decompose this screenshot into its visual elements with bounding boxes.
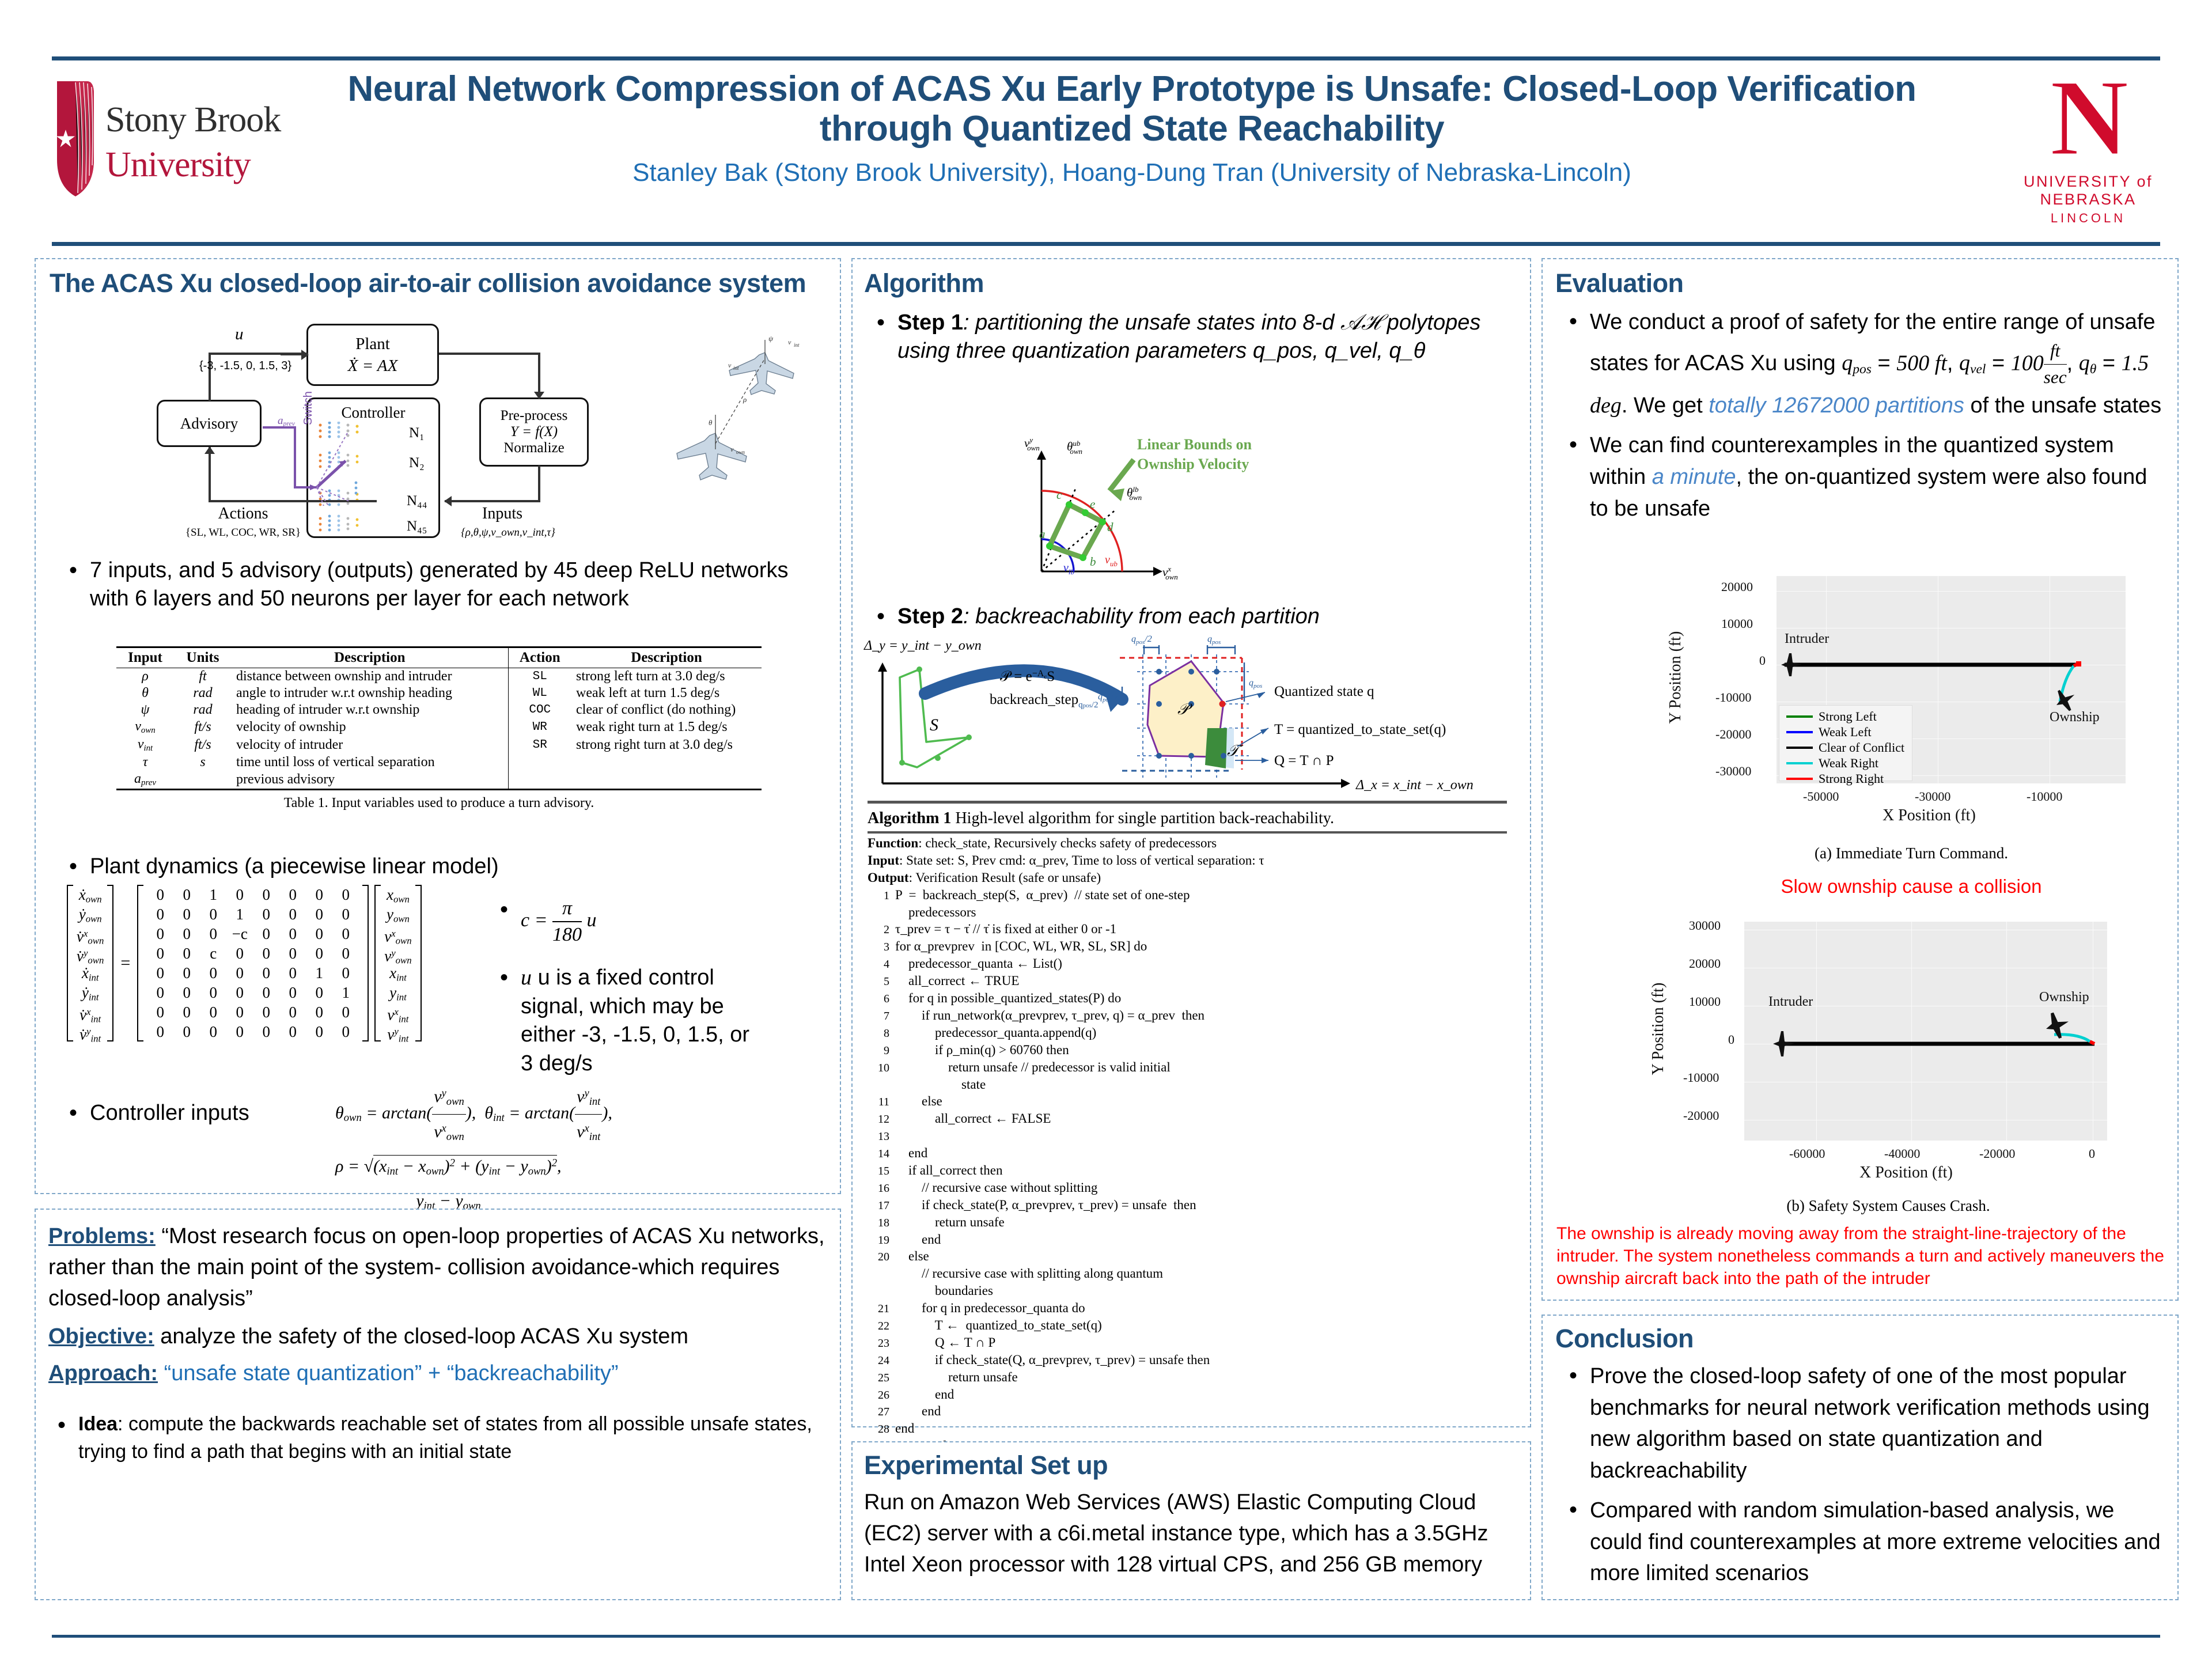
th-action: Action — [508, 647, 571, 668]
legend-item: Strong Right — [1779, 771, 1912, 786]
plot-b-ytick: 20000 — [1689, 956, 1721, 971]
label-inputs: Inputs — [456, 505, 548, 523]
legend-swatch-weak-left — [1786, 731, 1813, 733]
equals-sign: = — [113, 953, 137, 973]
matrix-rhs-column: xown yown vxown vyown xint yint vxint vy… — [381, 885, 415, 1041]
legend-swatch-strong-right — [1786, 778, 1813, 780]
section-heading-acas: The ACAS Xu closed-loop air-to-air colli… — [50, 268, 806, 298]
matrix-a-cell: 0 — [253, 944, 279, 963]
matrix-a-cell: 0 — [147, 1002, 173, 1022]
legend-item: Strong Left — [1779, 709, 1912, 724]
svg-text:v: v — [788, 338, 791, 346]
panel-conclusion: Conclusion Prove the closed-loop safety … — [1541, 1315, 2179, 1600]
aircraft-icon-intruder — [1773, 1031, 1795, 1056]
matrix-a-cell: 0 — [332, 1002, 359, 1022]
matrix-a-cell: 0 — [147, 983, 173, 1002]
algorithm-line: 17 if check_state(P, α_prevprev, τ_prev)… — [868, 1196, 1507, 1214]
matrix-a-cell: 0 — [200, 904, 226, 924]
cell-input: ψ — [116, 702, 174, 718]
algorithm-line-text: // recursive case without splitting — [895, 1180, 1097, 1195]
matrix-rhs-cell: yown — [384, 904, 411, 924]
step2-label: Step 2 — [897, 604, 963, 628]
experimental-setup-text: Run on Amazon Web Services (AWS) Elastic… — [864, 1487, 1521, 1581]
marker-collision — [2076, 661, 2081, 666]
matrix-a-cell: 0 — [332, 904, 359, 924]
matrix-a-cell: 0 — [306, 924, 332, 944]
matrix-a-cell: 0 — [147, 904, 173, 924]
block-preprocess: Pre-process Y = f(X) Normalize — [479, 397, 589, 467]
matrix-a-cell: 0 — [253, 885, 279, 904]
block-preprocess-line-2: Y = f(X) — [510, 424, 558, 440]
label-qpos-right: qpos — [1249, 678, 1262, 690]
matrix-a-cell: 0 — [253, 1002, 279, 1022]
table-caption: Table 1. Input variables used to produce… — [116, 796, 762, 811]
annotation-Q: Q = T ∩ P — [1274, 753, 1334, 768]
svg-text:d: d — [1107, 520, 1113, 534]
algorithm-line: 20 else — [868, 1248, 1507, 1265]
matrix-a-cell: 0 — [306, 904, 332, 924]
algorithm-line-text: all_correct ← FALSE — [895, 1111, 1051, 1126]
cell-action-description: clear of conflict (do nothing) — [571, 702, 762, 718]
cell-units: rad — [174, 702, 232, 718]
svg-text:θlbown: θlbown — [1127, 485, 1142, 502]
closed-loop-block-diagram: Plant Ẋ = AX Pre-process Y = f(X) Normal… — [134, 312, 623, 543]
matrix-a-cell: 0 — [173, 983, 200, 1002]
cell-action: SR — [508, 736, 571, 754]
stony-brook-wordmark-2: University — [105, 145, 251, 185]
label-qpos-top: qpos — [1207, 634, 1221, 646]
svg-text:vyown: vyown — [1024, 435, 1040, 452]
axis-label-delta-y: Δ_y = y_int − y_own — [863, 638, 982, 653]
algorithm-line-text: boundaries — [895, 1283, 993, 1298]
matrix-a-cell: 0 — [306, 885, 332, 904]
algorithm-line: 26 end — [868, 1386, 1507, 1403]
algorithm-line-text: end — [895, 1232, 941, 1247]
matrix-rhs-cell: vxown — [384, 924, 411, 944]
matrix-a-cell: 0 — [147, 963, 173, 983]
aircraft-icon-intruder — [1781, 653, 1802, 676]
objective-label: Objective: — [48, 1324, 154, 1349]
algorithm-line: 25 return unsafe — [868, 1369, 1507, 1386]
plot-b-area: Intruder Ownship — [1744, 922, 2107, 1141]
label-u: u — [235, 325, 244, 344]
label-actions-set: {SL, WL, COC, WR, SR} — [173, 527, 313, 539]
algorithm-line: 2τ_prev = τ − τ̇ // τ̇ is fixed at eithe… — [868, 921, 1507, 938]
matrix-a-cell: 0 — [226, 963, 253, 983]
bracket-right-lhs — [107, 885, 113, 1041]
plot-a-caption: (a) Immediate Turn Command. — [1692, 844, 2130, 862]
input-variable-table: Input Units Description Action Descripti… — [116, 646, 762, 790]
matrix-a-cell: 0 — [173, 885, 200, 904]
cell-action: WR — [508, 718, 571, 736]
label-actions: Actions — [197, 505, 289, 523]
legend-item: Weak Right — [1779, 755, 1912, 771]
plot-a-ylabel: Y Position (ft) — [1666, 611, 1685, 744]
legend-swatch-weak-right — [1786, 762, 1813, 764]
algorithm-line-number: 24 — [868, 1353, 889, 1368]
algorithm-input-row: Input: State set: S, Prev cmd: α_prev, T… — [868, 852, 1507, 869]
plot-b-data — [1744, 922, 2107, 1141]
cell-units — [174, 771, 232, 789]
header-bottom-rule — [52, 242, 2160, 246]
algorithm-line: 16 // recursive case without splitting — [868, 1179, 1507, 1196]
cell-input: τ — [116, 754, 174, 771]
plot-a-xtick: -10000 — [2027, 789, 2062, 804]
step1-text: : partitioning the unsafe states into 8-… — [897, 310, 1480, 363]
algorithm-line-text: return unsafe // predecessor is valid in… — [895, 1060, 1171, 1074]
matrix-a-cell: c — [200, 944, 226, 963]
cell-action-description: strong left turn at 3.0 deg/s — [571, 668, 762, 685]
poster-title-line-2: through Quantized State Reachability — [320, 109, 1944, 149]
algorithm-line: boundaries — [868, 1282, 1507, 1300]
bullet-list-conclusion: Prove the closed-loop safety of one of t… — [1560, 1361, 2165, 1597]
algorithm-line-number: 27 — [868, 1404, 889, 1419]
matrix-a-cell: 0 — [200, 1022, 226, 1041]
svg-text:c: c — [1056, 488, 1062, 502]
panel-algorithm: Algorithm Step 1: partitioning the unsaf… — [851, 258, 1531, 1427]
algorithm-function-value: : check_state, Recursively checks safety… — [918, 836, 1217, 850]
algorithm-line-number: 22 — [868, 1319, 889, 1334]
cell-action — [508, 754, 571, 771]
matrix-a-cell: 0 — [253, 924, 279, 944]
step1-label: Step 1 — [897, 310, 963, 335]
algorithm-line-text: predecessors — [895, 905, 976, 919]
algorithm-line-number: 9 — [868, 1043, 889, 1058]
algorithm-line-text: Q ← T ∩ P — [895, 1335, 995, 1350]
cell-units: s — [174, 754, 232, 771]
svg-text:v: v — [730, 445, 734, 453]
svg-text:own: own — [736, 449, 745, 455]
problems-block: Problems: “Most research focus on open-l… — [48, 1221, 832, 1474]
bullet-plant-dynamics: Plant dynamics (a piecewise linear model… — [60, 853, 809, 881]
annotation-T: T = quantized_to_state_set(q) — [1274, 722, 1446, 737]
algorithm-line: 23 Q ← T ∩ P — [868, 1334, 1507, 1351]
cell-description: previous advisory — [232, 771, 508, 789]
matrix-a-cell: 0 — [306, 1022, 332, 1041]
block-controller-title: Controller — [342, 404, 406, 421]
matrix-a-cell: 0 — [253, 1022, 279, 1041]
svg-text:θ: θ — [709, 418, 713, 427]
matrix-a-cell: 0 — [173, 944, 200, 963]
matrix-lhs-cell: v̇yint — [77, 1022, 104, 1041]
plot-b-ytick: 0 — [1728, 1032, 1734, 1047]
problems-paragraph: Problems: “Most research focus on open-l… — [48, 1221, 832, 1315]
matrix-a-cell: 0 — [173, 924, 200, 944]
network-label-n2: N₂ — [409, 455, 425, 471]
network-label-n1: N₁ — [409, 425, 425, 441]
stony-brook-logo: Stony Brook University — [55, 78, 311, 222]
cell-action: COC — [508, 702, 571, 718]
matrix-a-cell: 1 — [306, 963, 332, 983]
matrix-a-cell: 0 — [279, 924, 306, 944]
algorithm-line: 9 if ρ_min(q) > 60760 then — [868, 1041, 1507, 1059]
wire-preprocess-down — [538, 465, 540, 501]
bracket-left-lhs — [67, 885, 73, 1041]
matrix-a-cell: 0 — [200, 1002, 226, 1022]
block-preprocess-line-3: Normalize — [503, 440, 565, 456]
bullet-eval-2: We can find counterexamples in the quant… — [1560, 430, 2165, 524]
svg-text:e: e — [1090, 497, 1095, 511]
matrix-a-cell: 0 — [279, 983, 306, 1002]
eval-highlight-partitions: totally 12672000 partitions — [1709, 393, 1964, 418]
bullet-list-networks: 7 inputs, and 5 advisory (outputs) gener… — [60, 556, 809, 622]
matrix-a-cell: 0 — [173, 963, 200, 983]
cell-units: rad — [174, 685, 232, 702]
series-strong-right — [2090, 1041, 2094, 1044]
algorithm-output-label: Output — [868, 870, 909, 885]
algorithm-line-number: 5 — [868, 974, 889, 989]
cell-action-description — [571, 771, 762, 789]
bullet-step1: Step 1: partitioning the unsafe states i… — [868, 309, 1507, 366]
linear-bounds-figure: vyown vxown θubown θlbown ab cd e vub vl… — [1014, 427, 1452, 594]
u-symbol: u — [521, 965, 532, 990]
cell-units: ft — [174, 668, 232, 685]
bullet-list-step1: Step 1: partitioning the unsafe states i… — [868, 309, 1507, 374]
cell-input: θ — [116, 685, 174, 702]
svg-text:b: b — [1090, 555, 1096, 569]
legend-label-clear-of-conflict: Clear of Conflict — [1819, 740, 1904, 755]
bullet-u-text: u is a fixed control signal, which may b… — [521, 965, 749, 1075]
plot-b-ytick: 10000 — [1689, 994, 1721, 1009]
cell-input: vint — [116, 736, 174, 754]
algorithm-line: 22 T ← quantized_to_state_set(q) — [868, 1317, 1507, 1334]
bullet-list-evaluation: We conduct a proof of safety for the ent… — [1560, 306, 2165, 532]
svg-text:ψ: ψ — [768, 334, 774, 343]
algorithm-line: 18 return unsafe — [868, 1214, 1507, 1231]
nebraska-wordmark-1: UNIVERSITY of NEBRASKA — [1976, 173, 2200, 209]
table-row: τ s time until loss of vertical separati… — [116, 754, 762, 771]
matrix-a-cell: 0 — [279, 944, 306, 963]
algorithm-line-number: 17 — [868, 1198, 889, 1213]
matrix-rhs-cell: xown — [384, 885, 411, 904]
matrix-a-cell: 0 — [332, 944, 359, 963]
matrix-a-cell: −c — [226, 924, 253, 944]
poster-title-line-1: Neural Network Compression of ACAS Xu Ea… — [320, 69, 1944, 109]
matrix-lhs-cell: ẋint — [77, 963, 104, 983]
matrix-lhs-column: ẋown ẏown v̇xown v̇yown ẋint ẏint v̇xint… — [73, 885, 107, 1041]
eq-P: 𝒫 = e−AcS — [1000, 669, 1055, 684]
block-advisory-label: Advisory — [180, 415, 238, 432]
matrix-a-cell: 0 — [226, 983, 253, 1002]
matrix-a-cell: 0 — [279, 1002, 306, 1022]
poster-root: Stony Brook University Neural Network Co… — [0, 0, 2212, 1659]
plot-a-ytick: 10000 — [1721, 616, 1753, 631]
plot-a-red-note: Slow ownship cause a collision — [1692, 874, 2130, 899]
cell-description: heading of intruder w.r.t ownship — [232, 702, 508, 718]
plot-b-caption: (b) Safety System Causes Crash. — [1669, 1197, 2107, 1215]
plot-b-annotation-ownship: Ownship — [2039, 990, 2089, 1005]
label-u-set: {-3, -1.5, 0, 1.5, 3} — [199, 359, 291, 373]
cell-input: ρ — [116, 668, 174, 685]
matrix-a-cell: 0 — [226, 944, 253, 963]
matrix-a-cell: 0 — [332, 1022, 359, 1041]
section-heading-algorithm: Algorithm — [864, 268, 984, 298]
matrix-a-cell: 0 — [332, 963, 359, 983]
plot-a-area: Strong Left Weak Left Clear of Conflict … — [1777, 576, 2126, 783]
matrix-a-cell: 0 — [332, 924, 359, 944]
label-aprev: aprev — [278, 415, 295, 428]
algorithm-line-number: 13 — [868, 1129, 889, 1144]
cell-description: velocity of intruder — [232, 736, 508, 754]
plot-b-xtick: -60000 — [1789, 1146, 1825, 1161]
algorithm-line-number: 7 — [868, 1009, 889, 1024]
cell-action: WL — [508, 685, 571, 702]
legend-label-weak-left: Weak Left — [1819, 725, 1872, 740]
svg-text:vxown: vxown — [1162, 565, 1178, 581]
network-label-n45: N₄₅ — [407, 518, 427, 535]
algorithm-line-number: 20 — [868, 1249, 889, 1264]
shield-icon — [55, 79, 96, 199]
plot-a-annotation-ownship: Ownship — [2050, 710, 2100, 725]
legend-item: Weak Left — [1779, 724, 1912, 740]
th-description: Description — [232, 647, 508, 668]
algorithm-line: 28end — [868, 1420, 1507, 1437]
label-inputs-set: {ρ,θ,ψ,v_own,v_int,τ} — [445, 527, 571, 539]
matrix-a-cell: 0 — [253, 904, 279, 924]
footer-rule — [52, 1635, 2160, 1638]
objective-text: analyze the safety of the closed-loop AC… — [160, 1324, 688, 1349]
algorithm-line-text: T ← quantized_to_state_set(q) — [895, 1318, 1102, 1332]
bracket-left-rhs — [374, 885, 381, 1041]
cell-units: ft/s — [174, 736, 232, 754]
matrix-a-cell: 1 — [226, 904, 253, 924]
bracket-left-a — [137, 885, 143, 1041]
equation-theta-own-int: θown = arctan( vyown vxown), θint = arct… — [335, 1080, 831, 1149]
plot-b-xtick: -40000 — [1884, 1146, 1920, 1161]
algorithm-line-number: 19 — [868, 1233, 889, 1248]
panel-acas-system: The ACAS Xu closed-loop air-to-air colli… — [35, 258, 841, 1194]
plot-b-xtick: -20000 — [1979, 1146, 2015, 1161]
algorithm-line-text: predecessor_quanta.append(q) — [895, 1025, 1096, 1040]
algorithm-line: 3for α_prevprev in [COC, WL, WR, SL, SR]… — [868, 938, 1507, 955]
plot-b-ylabel: Y Position (ft) — [1649, 963, 1668, 1095]
block-plant-title: Plant — [355, 335, 390, 353]
matrix-a-cell: 0 — [147, 1022, 173, 1041]
algorithm-line-text: if check_state(P, α_prevprev, τ_prev) = … — [895, 1198, 1196, 1212]
algorithm-line-number: 3 — [868, 940, 889, 955]
block-plant-equation: Ẋ = AX — [348, 357, 398, 375]
th-action-description: Description — [571, 647, 762, 668]
problems-text: “Most research focus on open-loop proper… — [48, 1224, 825, 1310]
wire-actions-to-advisory — [209, 447, 211, 501]
matrix-a-cell: 0 — [279, 1022, 306, 1041]
cell-description: angle to intruder w.r.t ownship heading — [232, 685, 508, 702]
algorithm-line-number: 25 — [868, 1370, 889, 1385]
matrix-a-cell: 0 — [173, 1002, 200, 1022]
bullet-conclusion-1: Prove the closed-loop safety of one of t… — [1560, 1361, 2165, 1487]
algorithm-line-text: end — [895, 1404, 941, 1418]
th-units: Units — [174, 647, 232, 668]
algorithm-line: 24 if check_state(Q, α_prevprev, τ_prev)… — [868, 1351, 1507, 1369]
cell-units: ft/s — [174, 718, 232, 736]
matrix-rhs-cell: vyown — [384, 944, 411, 963]
algorithm-line-text: end — [895, 1421, 914, 1435]
algorithm-line: 8 predecessor_quanta.append(q) — [868, 1024, 1507, 1041]
algorithm-line-number: 14 — [868, 1146, 889, 1161]
algorithm-title-bold: Algorithm 1 — [868, 809, 951, 827]
matrix-lhs-cell: v̇xint — [77, 1002, 104, 1022]
bullet-list-idea: Idea: compute the backwards reachable se… — [48, 1410, 832, 1466]
bullet-u-description: u u is a fixed control signal, which may… — [491, 964, 767, 1078]
nebraska-logo: N UNIVERSITY of NEBRASKA LINCOLN — [1976, 66, 2200, 219]
matrix-rhs-cell: xint — [384, 963, 411, 983]
matrix-a-cell: 1 — [332, 983, 359, 1002]
annotation-quantized-state: Quantized state q — [1274, 684, 1374, 699]
svg-text:S: S — [930, 715, 938, 734]
approach-paragraph: Approach: “unsafe state quantization” + … — [48, 1358, 832, 1389]
matrix-a-cell: 1 — [200, 885, 226, 904]
poster-authors: Stanley Bak (Stony Brook University), Ho… — [320, 158, 1944, 187]
algorithm-line-number: 12 — [868, 1112, 889, 1127]
legend-label-strong-left: Strong Left — [1819, 709, 1877, 724]
plot-b-ytick: 30000 — [1689, 918, 1721, 933]
stony-brook-wordmark-1: Stony Brook — [105, 100, 281, 141]
cell-action-description: weak left at turn 1.5 deg/s — [571, 685, 762, 702]
algorithm-function-label: Function — [868, 836, 918, 850]
algorithm-line: 10 return unsafe // predecessor is valid… — [868, 1059, 1507, 1076]
algorithm-line: predecessors — [868, 904, 1507, 921]
matrix-lhs-cell: v̇yown — [77, 944, 104, 963]
aprev-switch-wire — [262, 419, 377, 506]
algorithm-line: // recursive case with splitting along q… — [868, 1265, 1507, 1282]
matrix-a-cell: 0 — [200, 963, 226, 983]
algorithm-line: 12 all_correct ← FALSE — [868, 1110, 1507, 1127]
bullet-conclusion-2: Compared with random simulation-based an… — [1560, 1495, 2165, 1589]
algorithm-line-text: // recursive case with splitting along q… — [895, 1266, 1163, 1281]
algorithm-line: 4 predecessor_quanta ← List() — [868, 955, 1507, 972]
plot-a-ytick: 20000 — [1721, 579, 1753, 594]
table-body: ρ ft distance between ownship and intrud… — [116, 668, 762, 790]
block-preprocess-line-1: Pre-process — [501, 408, 568, 424]
algorithm-line-number: 2 — [868, 922, 889, 937]
plot-b-ytick: -20000 — [1683, 1108, 1719, 1123]
wire-u-arrow — [281, 354, 308, 355]
bullet-list-control-signal: c = π 180 u u u is a fixed control signa… — [491, 896, 767, 1086]
matrix-lhs-cell: ẏint — [77, 983, 104, 1002]
cell-description: time until loss of vertical separation — [232, 754, 508, 771]
step2-text: : backreachability from each partition — [963, 604, 1320, 628]
wire-plant-right — [439, 353, 540, 355]
plot-a-ytick: -10000 — [1715, 690, 1751, 705]
algorithm-line-number: 6 — [868, 991, 889, 1006]
algorithm-input-label: Input — [868, 853, 899, 868]
algorithm-line: state — [868, 1076, 1507, 1093]
algorithm-code-lines: 1P = backreach_step(S, α_prev) // state … — [868, 887, 1507, 1455]
algorithm-line: 11 else — [868, 1093, 1507, 1110]
algorithm-line: 21 for q in predecessor_quanta do — [868, 1300, 1507, 1317]
legend-swatch-strong-left — [1786, 715, 1813, 718]
plot-a-xlabel: X Position (ft) — [1883, 806, 1976, 825]
matrix-a-cell: 0 — [279, 963, 306, 983]
algorithm-line-text: for α_prevprev in [COC, WL, WR, SL, SR] … — [895, 939, 1147, 953]
idea-label: Idea — [78, 1413, 118, 1435]
bullet-idea: Idea: compute the backwards reachable se… — [48, 1410, 832, 1466]
cell-action-description: strong right turn at 3.0 deg/s — [571, 736, 762, 754]
algorithm-title-rest: High-level algorithm for single partitio… — [955, 809, 1334, 827]
algorithm-line-text: else — [895, 1094, 942, 1108]
algorithm-line-text: τ_prev = τ − τ̇ // τ̇ is fixed at either… — [895, 922, 1116, 936]
algorithm-line-text: all_correct ← TRUE — [895, 974, 1019, 988]
algorithm-line-text: else — [895, 1249, 929, 1263]
panel-evaluation: Evaluation We conduct a proof of safety … — [1541, 258, 2179, 1301]
algorithm-line-text: if run_network(α_prevprev, τ_prev, q) = … — [895, 1008, 1205, 1022]
matrix-a-cell: 0 — [306, 944, 332, 963]
th-input: Input — [116, 647, 174, 668]
plot-b-annotation-intruder: Intruder — [1768, 994, 1813, 1010]
plot-a-xtick: -50000 — [1803, 789, 1839, 804]
algorithm-line-number: 18 — [868, 1215, 889, 1230]
plot-b-safety-crash: Intruder Ownship 30000 20000 10000 0 -10… — [1629, 916, 2147, 1192]
